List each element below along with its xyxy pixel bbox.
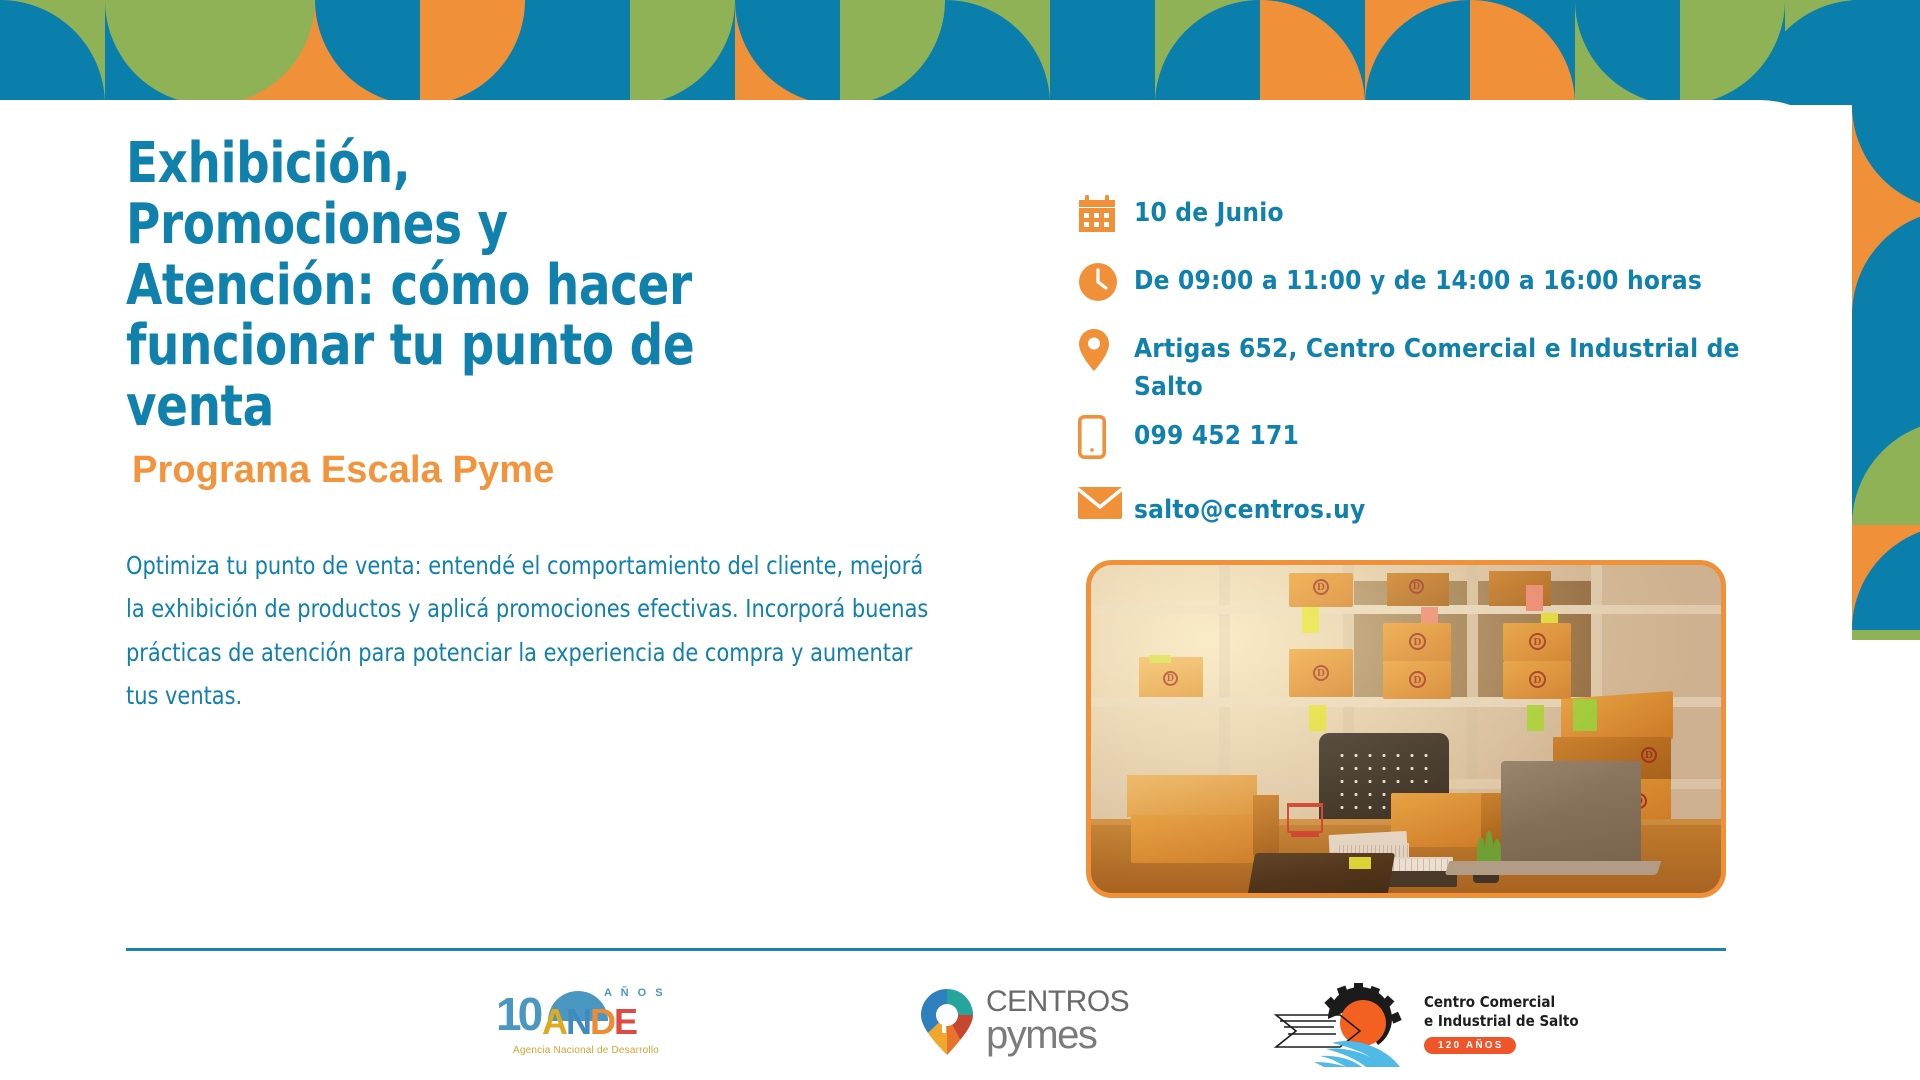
logo-centros-pymes: CENTROS pymes bbox=[596, 975, 1066, 1070]
pattern-tile bbox=[1365, 0, 1470, 105]
pattern-tile bbox=[525, 0, 630, 105]
pattern-tile bbox=[1852, 525, 1920, 630]
description-paragraph: Optimiza tu punto de venta: entendé el c… bbox=[126, 544, 943, 718]
event-photo-frame: D D D D D D D D bbox=[1086, 560, 1726, 898]
pattern-tile bbox=[840, 0, 945, 105]
pattern-tile bbox=[1852, 315, 1920, 420]
ande-letter-a: A bbox=[542, 1001, 566, 1042]
pattern-tile bbox=[1852, 210, 1920, 315]
ccis-line-2: e Industrial de Salto bbox=[1424, 1012, 1624, 1031]
pattern-tile bbox=[945, 0, 1050, 105]
flyer-root: Exhibición, Promociones y Atención: cómo… bbox=[0, 0, 1920, 1080]
info-row-time: De 09:00 a 11:00 y de 14:00 a 16:00 hora… bbox=[1078, 256, 1778, 308]
pattern-tile bbox=[105, 0, 210, 105]
logo-ande: 10 A Ñ O S ANDE Agencia Nacional de Desa… bbox=[126, 975, 596, 1070]
page-title: Exhibición, Promociones y Atención: cómo… bbox=[126, 134, 898, 438]
pattern-tile bbox=[420, 0, 525, 105]
pattern-tile bbox=[315, 0, 420, 105]
logo-centro-comercial-industrial-salto: Centro Comercial e Industrial de Salto 1… bbox=[1066, 975, 1626, 1070]
calendar-icon bbox=[1078, 188, 1134, 240]
pattern-tile bbox=[1852, 105, 1920, 210]
footer-divider bbox=[126, 948, 1726, 951]
ande-years-number: 10 bbox=[496, 987, 539, 1041]
info-row-address: Artigas 652, Centro Comercial e Industri… bbox=[1078, 324, 1778, 407]
info-phone-text: 099 452 171 bbox=[1134, 411, 1299, 455]
pattern-tile bbox=[1260, 0, 1365, 105]
pattern-tile bbox=[1470, 0, 1575, 105]
pattern-tile bbox=[1050, 0, 1155, 105]
pattern-tile bbox=[1575, 0, 1680, 105]
pattern-tile bbox=[1155, 0, 1260, 105]
info-address-text: Artigas 652, Centro Comercial e Industri… bbox=[1134, 324, 1778, 407]
event-photo: D D D D D D D D bbox=[1091, 565, 1721, 893]
program-subtitle: Programa Escala Pyme bbox=[126, 450, 956, 492]
ccis-emblem-icon bbox=[1266, 979, 1416, 1067]
pattern-tile bbox=[630, 0, 735, 105]
event-info-list: 10 de Junio De 09:00 a 11:00 y de 14:00 … bbox=[1078, 188, 1778, 545]
mobile-phone-icon bbox=[1078, 411, 1134, 463]
pattern-tile bbox=[210, 0, 315, 105]
location-pin-icon bbox=[1078, 324, 1134, 376]
ande-letter-n: N bbox=[566, 1001, 590, 1042]
footer-logos: 10 A Ñ O S ANDE Agencia Nacional de Desa… bbox=[126, 975, 1726, 1070]
pattern-tile bbox=[0, 0, 105, 105]
clock-icon bbox=[1078, 256, 1134, 308]
info-row-date: 10 de Junio bbox=[1078, 188, 1778, 240]
pattern-tile bbox=[735, 0, 840, 105]
envelope-icon bbox=[1078, 481, 1134, 525]
pattern-tile bbox=[1852, 420, 1920, 525]
info-email-text[interactable]: salto@centros.uy bbox=[1134, 481, 1365, 529]
pattern-tile bbox=[1680, 0, 1785, 105]
info-time-text: De 09:00 a 11:00 y de 14:00 a 16:00 hora… bbox=[1134, 256, 1702, 300]
info-row-phone: 099 452 171 bbox=[1078, 411, 1778, 463]
ccis-anniversary-badge: 120 AÑOS bbox=[1424, 1037, 1516, 1054]
pymes-pin-icon bbox=[916, 985, 978, 1059]
info-row-email[interactable]: salto@centros.uy bbox=[1078, 481, 1778, 529]
ccis-line-1: Centro Comercial bbox=[1424, 993, 1624, 1012]
left-column: Exhibición, Promociones y Atención: cómo… bbox=[126, 134, 956, 718]
info-date-text: 10 de Junio bbox=[1134, 188, 1284, 232]
